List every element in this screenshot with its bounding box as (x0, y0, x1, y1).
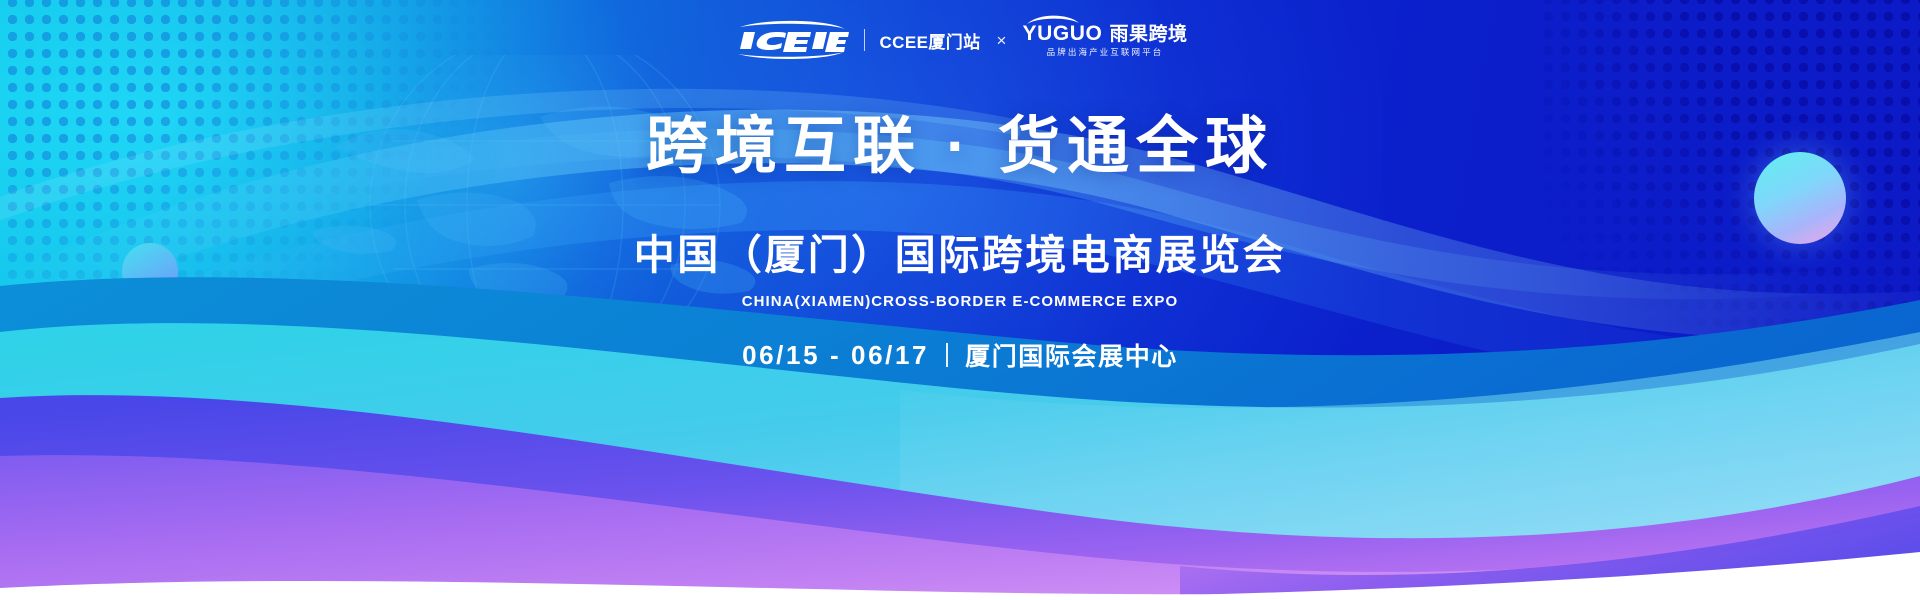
logo-bar: CCEE厦门站 × YUGUO 雨果跨境 品牌出海产业互联网平台 (0, 20, 1920, 60)
yuguo-logo: YUGUO 雨果跨境 品牌出海产业互联网平台 (1022, 23, 1187, 57)
yuguo-brand-cn: 雨果跨境 (1109, 25, 1187, 44)
meta-separator (946, 343, 948, 367)
iceie-logo-icon (732, 20, 850, 60)
cross-multiply-icon: × (995, 32, 1009, 49)
subtitle-cn: 中国（厦门）国际跨境电商展览会 (634, 221, 1287, 281)
yuguo-arc-icon (1026, 12, 1080, 25)
yuguo-tagline: 品牌出海产业互联网平台 (1047, 48, 1164, 57)
event-banner: CCEE厦门站 × YUGUO 雨果跨境 品牌出海产业互联网平台 跨境互联 · … (0, 0, 1920, 600)
banner-content: 跨境互联 · 货通全球 中国（厦门）国际跨境电商展览会 CHINA(XIAMEN… (0, 0, 1920, 600)
iceie-logo (732, 20, 850, 60)
headline: 跨境互联 · 货通全球 (646, 95, 1274, 185)
event-date: 06/15 - 06/17 (742, 340, 929, 371)
event-meta: 06/15 - 06/17 厦门国际会展中心 (742, 337, 1178, 373)
event-venue: 厦门国际会展中心 (965, 337, 1178, 373)
ccee-label: CCEE厦门站 (879, 28, 980, 53)
subtitle-en: CHINA(XIAMEN)CROSS-BORDER E-COMMERCE EXP… (742, 293, 1178, 310)
yuguo-brand-en: YUGUO (1022, 23, 1102, 44)
logo-divider (864, 29, 865, 51)
